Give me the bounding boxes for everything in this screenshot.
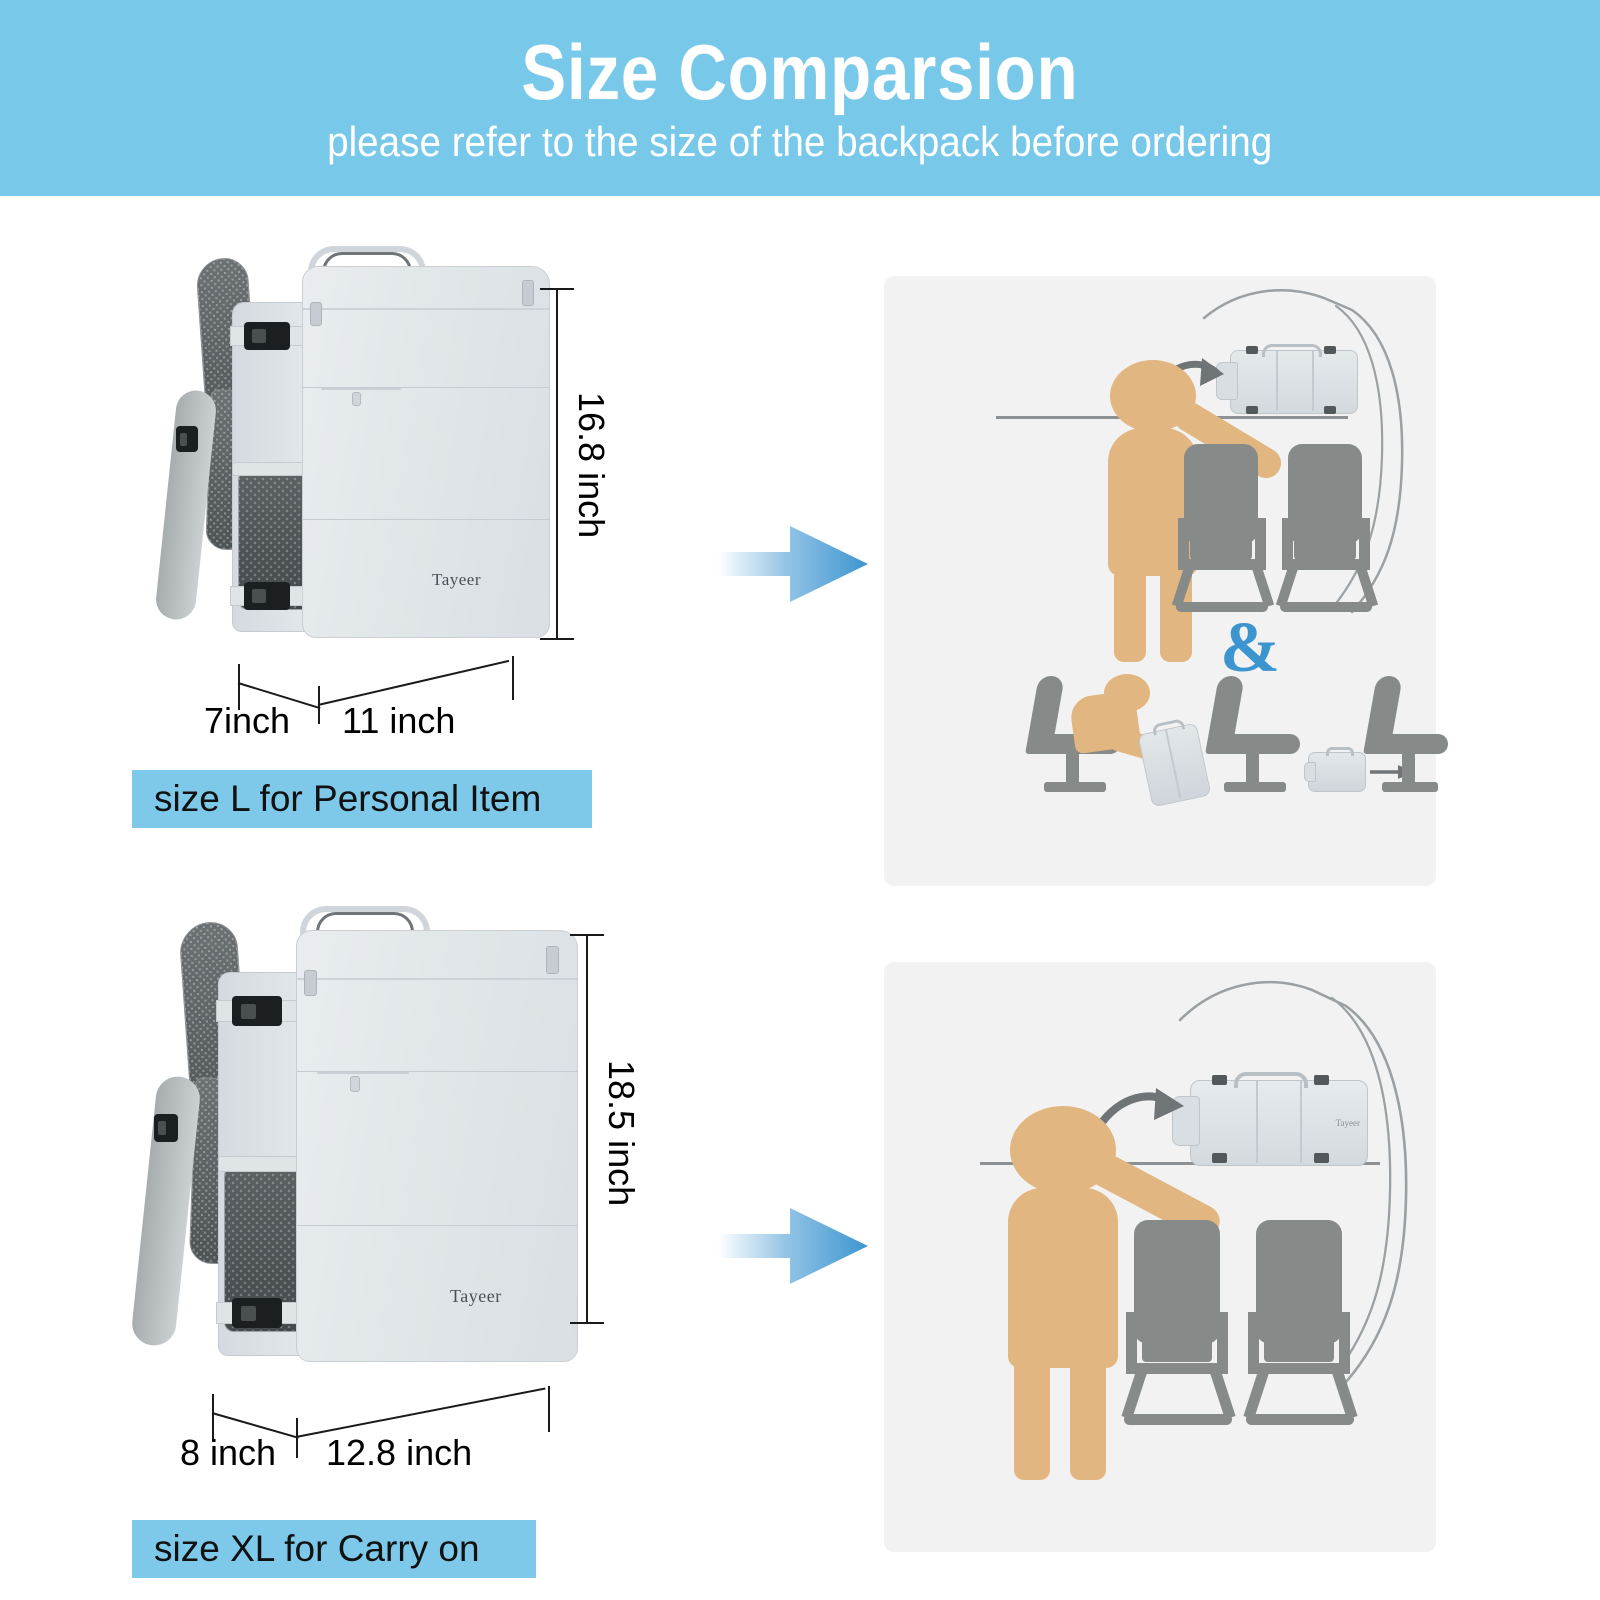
size-badge-xl-label: size XL for Carry on bbox=[154, 1528, 480, 1570]
front-pocket-zipper bbox=[352, 392, 361, 406]
top-compartment-zipper bbox=[302, 266, 550, 310]
size-badge-xl: size XL for Carry on bbox=[132, 1520, 536, 1578]
dimension-height-label: 16.8 inch bbox=[570, 392, 612, 538]
figure-torso bbox=[1008, 1188, 1118, 1368]
dimension-width-label: 12.8 inch bbox=[326, 1432, 472, 1474]
buckle-upper bbox=[232, 996, 282, 1026]
top-compartment-zipper bbox=[296, 930, 578, 980]
bag-in-overhead-bin: Tayeer bbox=[1172, 1072, 1370, 1164]
backpack-main-body bbox=[296, 930, 578, 1362]
backpack-image-size-l: Tayeer bbox=[160, 240, 560, 670]
figure-leg-right bbox=[1070, 1358, 1106, 1480]
size-badge-l-label: size L for Personal Item bbox=[154, 778, 541, 820]
transition-arrow-2 bbox=[718, 1200, 898, 1292]
front-pocket-zipper bbox=[350, 1076, 360, 1092]
brand-logo: Tayeer bbox=[432, 570, 481, 590]
bag-in-overhead-bin bbox=[1216, 344, 1358, 414]
usage-scene-panel-2: Tayeer bbox=[884, 962, 1436, 1552]
bag-sliding-under-seat bbox=[1304, 750, 1366, 792]
dimension-width-label: 11 inch bbox=[342, 700, 455, 742]
zipper-pull-right bbox=[522, 280, 534, 306]
buckle-lower bbox=[244, 582, 290, 610]
strap-buckle-upper-left bbox=[176, 426, 198, 452]
transition-arrow-1 bbox=[718, 518, 898, 610]
page-subtitle: please refer to the size of the backpack… bbox=[327, 121, 1272, 163]
backpack-image-size-xl: Tayeer bbox=[140, 900, 590, 1400]
dimension-height-label: 18.5 inch bbox=[600, 1060, 642, 1206]
brand-logo: Tayeer bbox=[450, 1286, 502, 1307]
figure-leg-left bbox=[1114, 566, 1146, 662]
backpack-main-body bbox=[302, 266, 550, 638]
zipper-pull-right bbox=[546, 946, 559, 974]
zipper-pull-left bbox=[310, 302, 322, 326]
dimension-depth-label: 8 inch bbox=[180, 1432, 276, 1474]
size-badge-l: size L for Personal Item bbox=[132, 770, 592, 828]
header-banner: Size Comparsion please refer to the size… bbox=[0, 0, 1600, 196]
strap-buckle-upper-left bbox=[154, 1114, 178, 1142]
page-title: Size Comparsion bbox=[521, 33, 1078, 111]
usage-scene-panel-1: & bbox=[884, 276, 1436, 886]
zipper-pull-left bbox=[304, 970, 317, 996]
dimension-depth-label: 7inch bbox=[204, 700, 290, 742]
buckle-upper bbox=[244, 322, 290, 350]
figure-leg-left bbox=[1014, 1358, 1050, 1480]
buckle-lower bbox=[232, 1298, 282, 1328]
